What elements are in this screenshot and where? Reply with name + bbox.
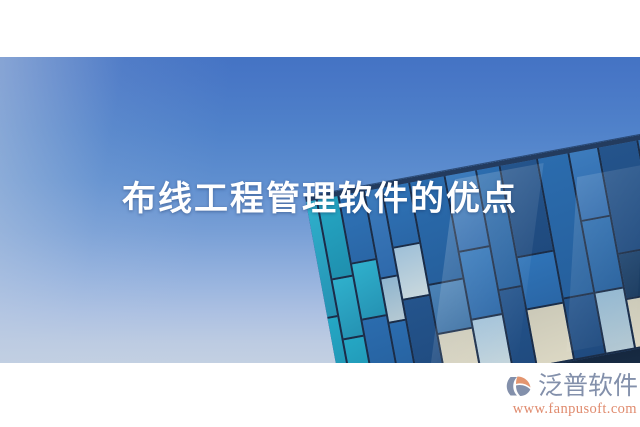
top-white-band [0,0,640,57]
brand-logo-row: 泛普软件 [504,370,638,402]
brand-logo[interactable]: 泛普软件 www.fanpusoft.com [492,370,638,418]
fanpu-logo-mark-icon [504,371,536,401]
page-title: 布线工程管理软件的优点 [0,179,640,219]
page-root: 布线工程管理软件的优点 泛普软件 www.fanpusoft.com [0,0,640,427]
brand-company-name: 泛普软件 [538,371,638,401]
brand-website-url[interactable]: www.fanpusoft.com [513,401,638,418]
hero-banner: 布线工程管理软件的优点 [0,57,640,363]
